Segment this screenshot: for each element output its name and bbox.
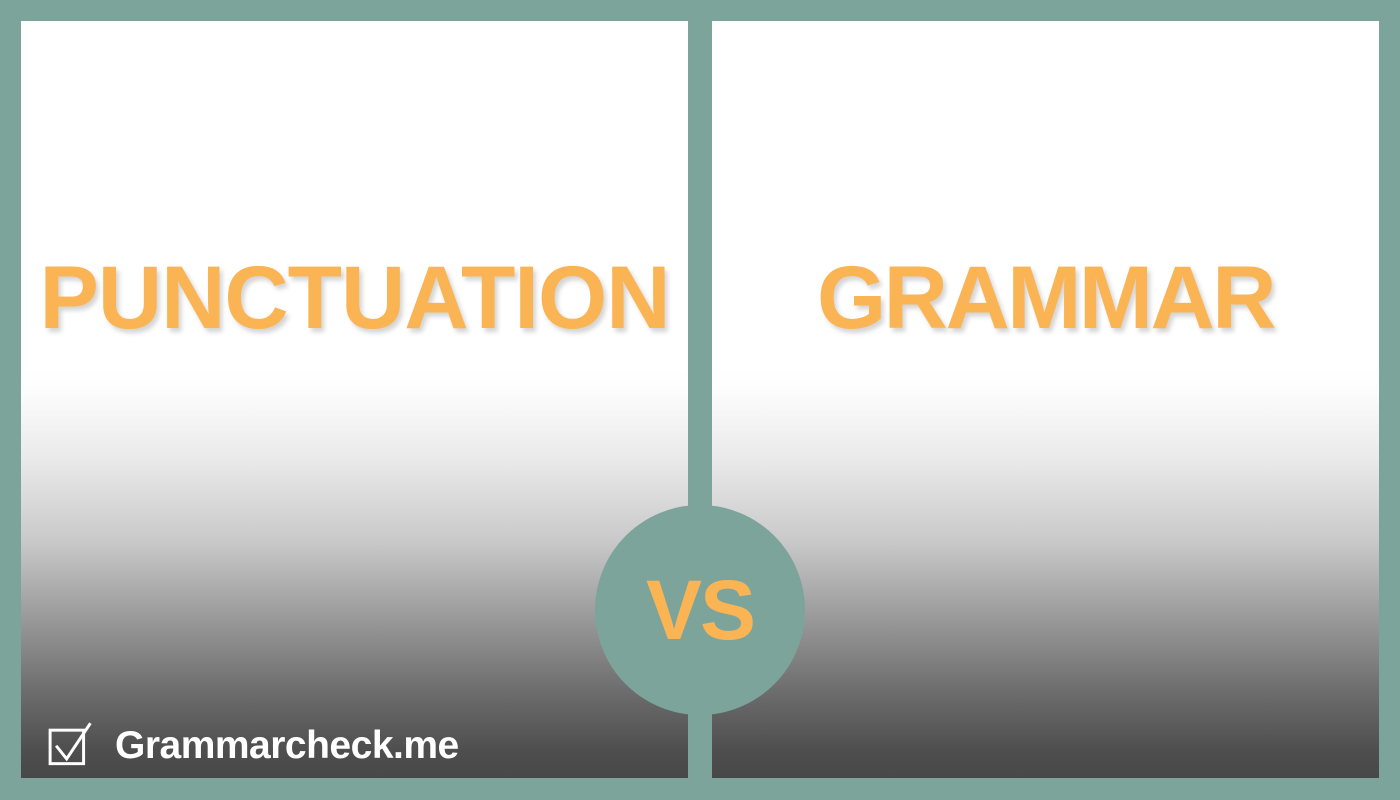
versus-badge: VS <box>595 505 805 715</box>
comparison-panel-left: PUNCTUATION <box>21 21 688 778</box>
brand-name: Grammarcheck.me <box>115 726 459 765</box>
comparison-graphic: PUNCTUATION GRAMMAR VS Grammarcheck.me <box>0 0 1400 800</box>
versus-label: VS <box>646 568 754 652</box>
panel-right-title: GRAMMAR <box>712 253 1379 342</box>
comparison-panel-right: GRAMMAR <box>712 21 1379 778</box>
panel-left-title: PUNCTUATION <box>21 253 688 342</box>
checkbox-check-icon <box>48 722 92 768</box>
brand-lockup: Grammarcheck.me <box>48 722 459 768</box>
